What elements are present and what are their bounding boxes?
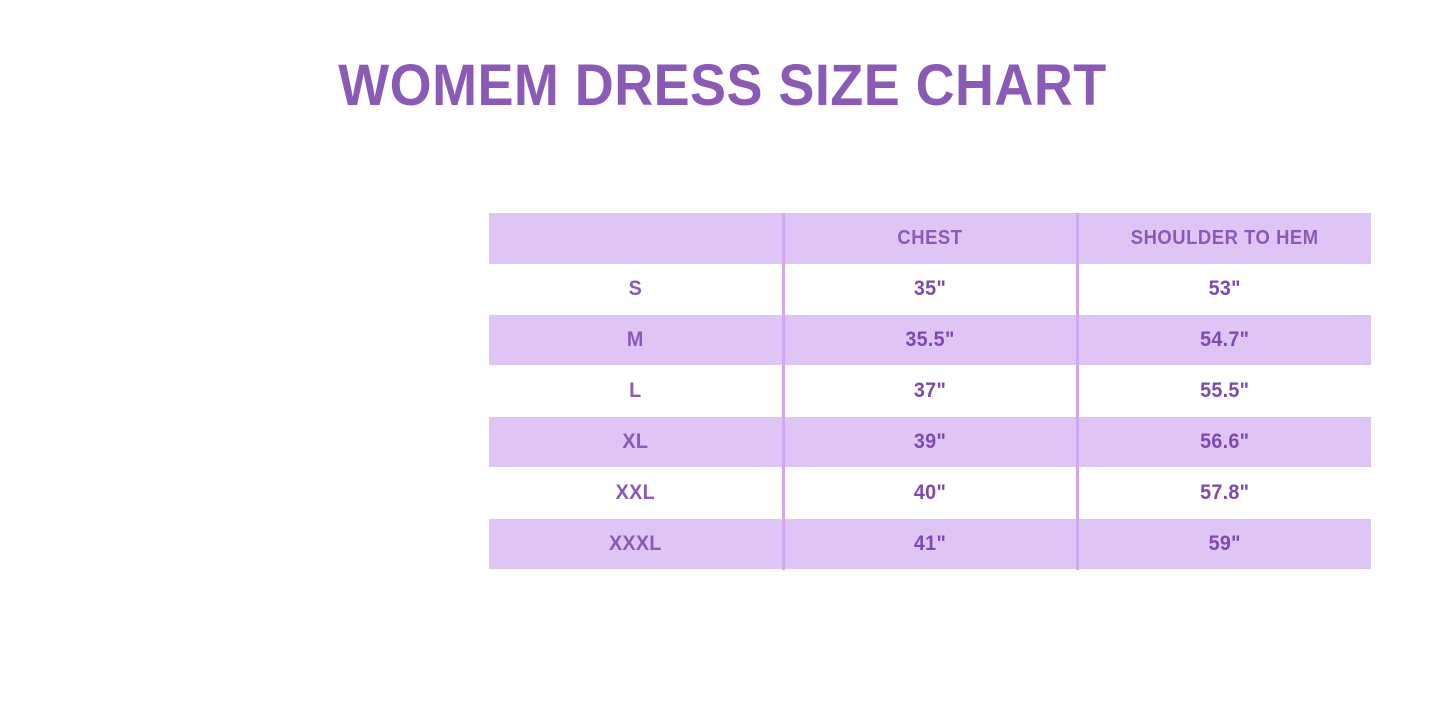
cell-chest: 40" — [792, 468, 1068, 519]
table-row: XXL 40" 57.8" — [489, 468, 1371, 519]
column-header-chest: CHEST — [795, 213, 1065, 264]
cell-chest: 41" — [792, 519, 1068, 570]
cell-size: M — [498, 315, 774, 366]
table-body: S 35" 53" M 35.5" 54.7" L 37" 55.5" XL 3… — [489, 264, 1371, 570]
size-chart-table: CHEST SHOULDER TO HEM S 35" 53" M 35.5" … — [489, 213, 1371, 570]
table-row: L 37" 55.5" — [489, 366, 1371, 417]
cell-size: XL — [498, 417, 774, 468]
column-header-shoulder-to-hem: SHOULDER TO HEM — [1089, 213, 1359, 264]
table-row: S 35" 53" — [489, 264, 1371, 315]
cell-size: XXXL — [498, 519, 774, 570]
cell-shoulder-to-hem: 57.8" — [1086, 468, 1362, 519]
cell-chest: 39" — [792, 417, 1068, 468]
size-chart-page: WOMEM DRESS SIZE CHART CHEST SHOULDER TO… — [0, 0, 1445, 723]
table-header: CHEST SHOULDER TO HEM — [489, 213, 1371, 264]
cell-chest: 37" — [792, 366, 1068, 417]
cell-size: XXL — [498, 468, 774, 519]
cell-size: S — [498, 264, 774, 315]
cell-chest: 35" — [792, 264, 1068, 315]
table-row: XXXL 41" 59" — [489, 519, 1371, 570]
cell-chest: 35.5" — [792, 315, 1068, 366]
cell-shoulder-to-hem: 55.5" — [1086, 366, 1362, 417]
cell-shoulder-to-hem: 53" — [1086, 264, 1362, 315]
cell-shoulder-to-hem: 54.7" — [1086, 315, 1362, 366]
table-header-row: CHEST SHOULDER TO HEM — [489, 213, 1371, 264]
cell-size: L — [498, 366, 774, 417]
cell-shoulder-to-hem: 56.6" — [1086, 417, 1362, 468]
page-title: WOMEM DRESS SIZE CHART — [51, 55, 1395, 117]
column-header-size — [501, 213, 771, 264]
table-row: XL 39" 56.6" — [489, 417, 1371, 468]
table-row: M 35.5" 54.7" — [489, 315, 1371, 366]
cell-shoulder-to-hem: 59" — [1086, 519, 1362, 570]
